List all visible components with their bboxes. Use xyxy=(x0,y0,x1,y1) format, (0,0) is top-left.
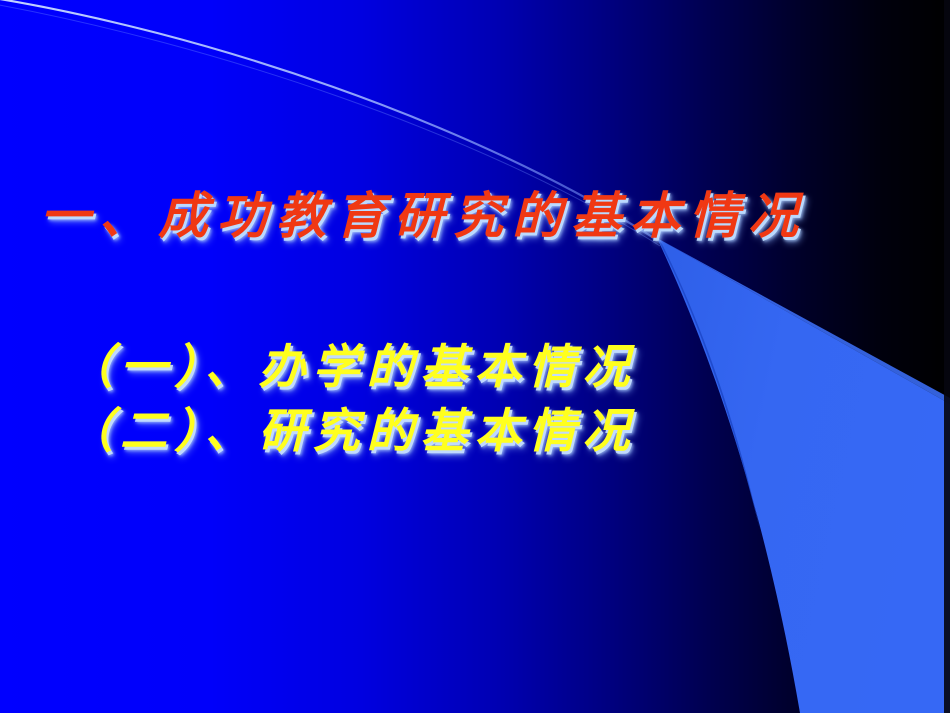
slide-item-1: （一）、办学的基本情况 xyxy=(66,336,637,400)
slide-item-list: （一）、办学的基本情况 （二）、研究的基本情况 xyxy=(66,336,637,464)
slide-title: 一、成功教育研究的基本情况 xyxy=(40,176,920,248)
slide-item-2: （二）、研究的基本情况 xyxy=(66,400,637,464)
slide-content: 一、成功教育研究的基本情况 （一）、办学的基本情况 （二）、研究的基本情况 xyxy=(0,0,950,713)
presentation-slide: 一、成功教育研究的基本情况 （一）、办学的基本情况 （二）、研究的基本情况 xyxy=(0,0,950,713)
